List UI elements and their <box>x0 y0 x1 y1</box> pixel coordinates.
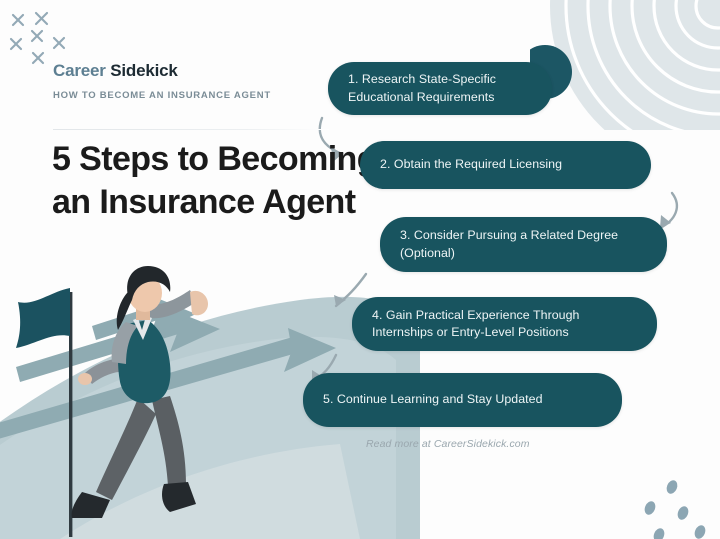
brand-subtitle: HOW TO BECOME AN INSURANCE AGENT <box>53 90 343 101</box>
connector-arrow-2-3 <box>660 193 677 228</box>
person-illustration <box>72 266 208 518</box>
read-more-link[interactable]: Read more at CareerSidekick.com <box>366 438 530 450</box>
hand-left <box>78 373 92 385</box>
brand-divider <box>53 129 329 130</box>
ascending-arrow-lower <box>0 328 336 450</box>
x-marks-decor <box>11 13 64 63</box>
brand-block: Career Sidekick HOW TO BECOME AN INSURAN… <box>53 62 343 101</box>
step-card-4[interactable]: 4. Gain Practical Experience Through Int… <box>352 297 657 351</box>
torso <box>118 320 170 403</box>
step-card-3[interactable]: 3. Consider Pursuing a Related Degree (O… <box>380 217 667 272</box>
infographic-canvas: Career Sidekick HOW TO BECOME AN INSURAN… <box>0 0 720 539</box>
flag <box>16 288 72 537</box>
hand-raised <box>190 291 208 315</box>
step-card-5[interactable]: 5. Continue Learning and Stay Updated <box>303 373 622 427</box>
dots-decor <box>643 479 708 539</box>
shoe-left <box>72 492 110 518</box>
hill-highlight <box>60 444 360 539</box>
page-title: 5 Steps to Becoming an Insurance Agent <box>52 138 382 224</box>
brand-logo-word-1: Career <box>53 61 106 80</box>
step-card-2[interactable]: 2. Obtain the Required Licensing <box>360 141 651 189</box>
hill-shape-light <box>0 337 396 539</box>
ascending-arrow-short <box>92 296 196 340</box>
brand-logo[interactable]: Career Sidekick <box>53 62 343 81</box>
ascending-arrow-upper <box>16 310 220 382</box>
brand-logo-word-2: Sidekick <box>110 61 177 80</box>
shoe-right <box>162 482 196 512</box>
head <box>128 274 162 312</box>
step-card-1[interactable]: 1. Research State-Specific Educational R… <box>328 62 552 115</box>
